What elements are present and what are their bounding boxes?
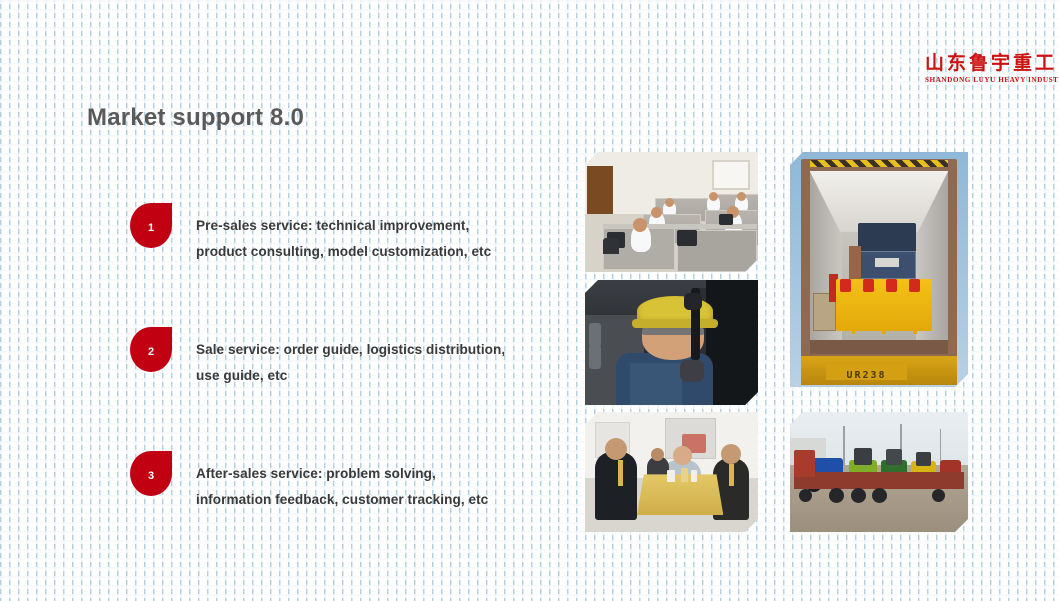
page-title: Market support 8.0 [87,104,304,132]
bullet-text-1-line-1: Pre-sales service: technical improvement… [196,213,491,239]
photo-business-meeting [585,412,758,532]
bullet-text-3-line-1: After-sales service: problem solving, [196,461,488,487]
bullet-badge-3: 3 [130,451,172,496]
bullet-item-1: 1 Pre-sales service: technical improveme… [130,203,560,265]
logo-text-block: 山东鲁宇重工 SHANDONG LUYU HEAVY INDUSTRY [925,54,1059,85]
bullet-text-2-line-2: use guide, etc [196,363,505,389]
bullet-text-1-line-2: product consulting, model customization,… [196,239,491,265]
bullet-item-2: 2 Sale service: order guide, logistics d… [130,327,560,389]
bullet-text-3: After-sales service: problem solving, in… [196,451,488,513]
bullet-text-2: Sale service: order guide, logistics dis… [196,327,505,389]
bullet-badge-1: 1 [130,203,172,248]
bullet-text-3-line-2: information feedback, customer tracking,… [196,487,488,513]
bullet-item-3: 3 After-sales service: problem solving, … [130,451,560,513]
photo-office-cubicles [585,152,758,272]
bullet-text-1: Pre-sales service: technical improvement… [196,203,491,265]
company-logo: 山东鲁宇重工 SHANDONG LUYU HEAVY INDUSTRY [880,50,1059,88]
photo-worker-hoist [585,280,758,405]
logo-company-name-cn: 山东鲁宇重工 [925,54,1059,74]
photo-truck-with-tractors [790,412,968,532]
bullet-list: 1 Pre-sales service: technical improveme… [130,203,560,513]
bullet-badge-2: 2 [130,327,172,372]
bullet-text-2-line-1: Sale service: order guide, logistics dis… [196,337,505,363]
photo-shipping-container: UR238 [790,152,968,387]
logo-company-name-en: SHANDONG LUYU HEAVY INDUSTRY [925,76,1059,85]
logo-swirl-icon [880,50,918,88]
container-plate-text: UR238 [826,370,908,381]
